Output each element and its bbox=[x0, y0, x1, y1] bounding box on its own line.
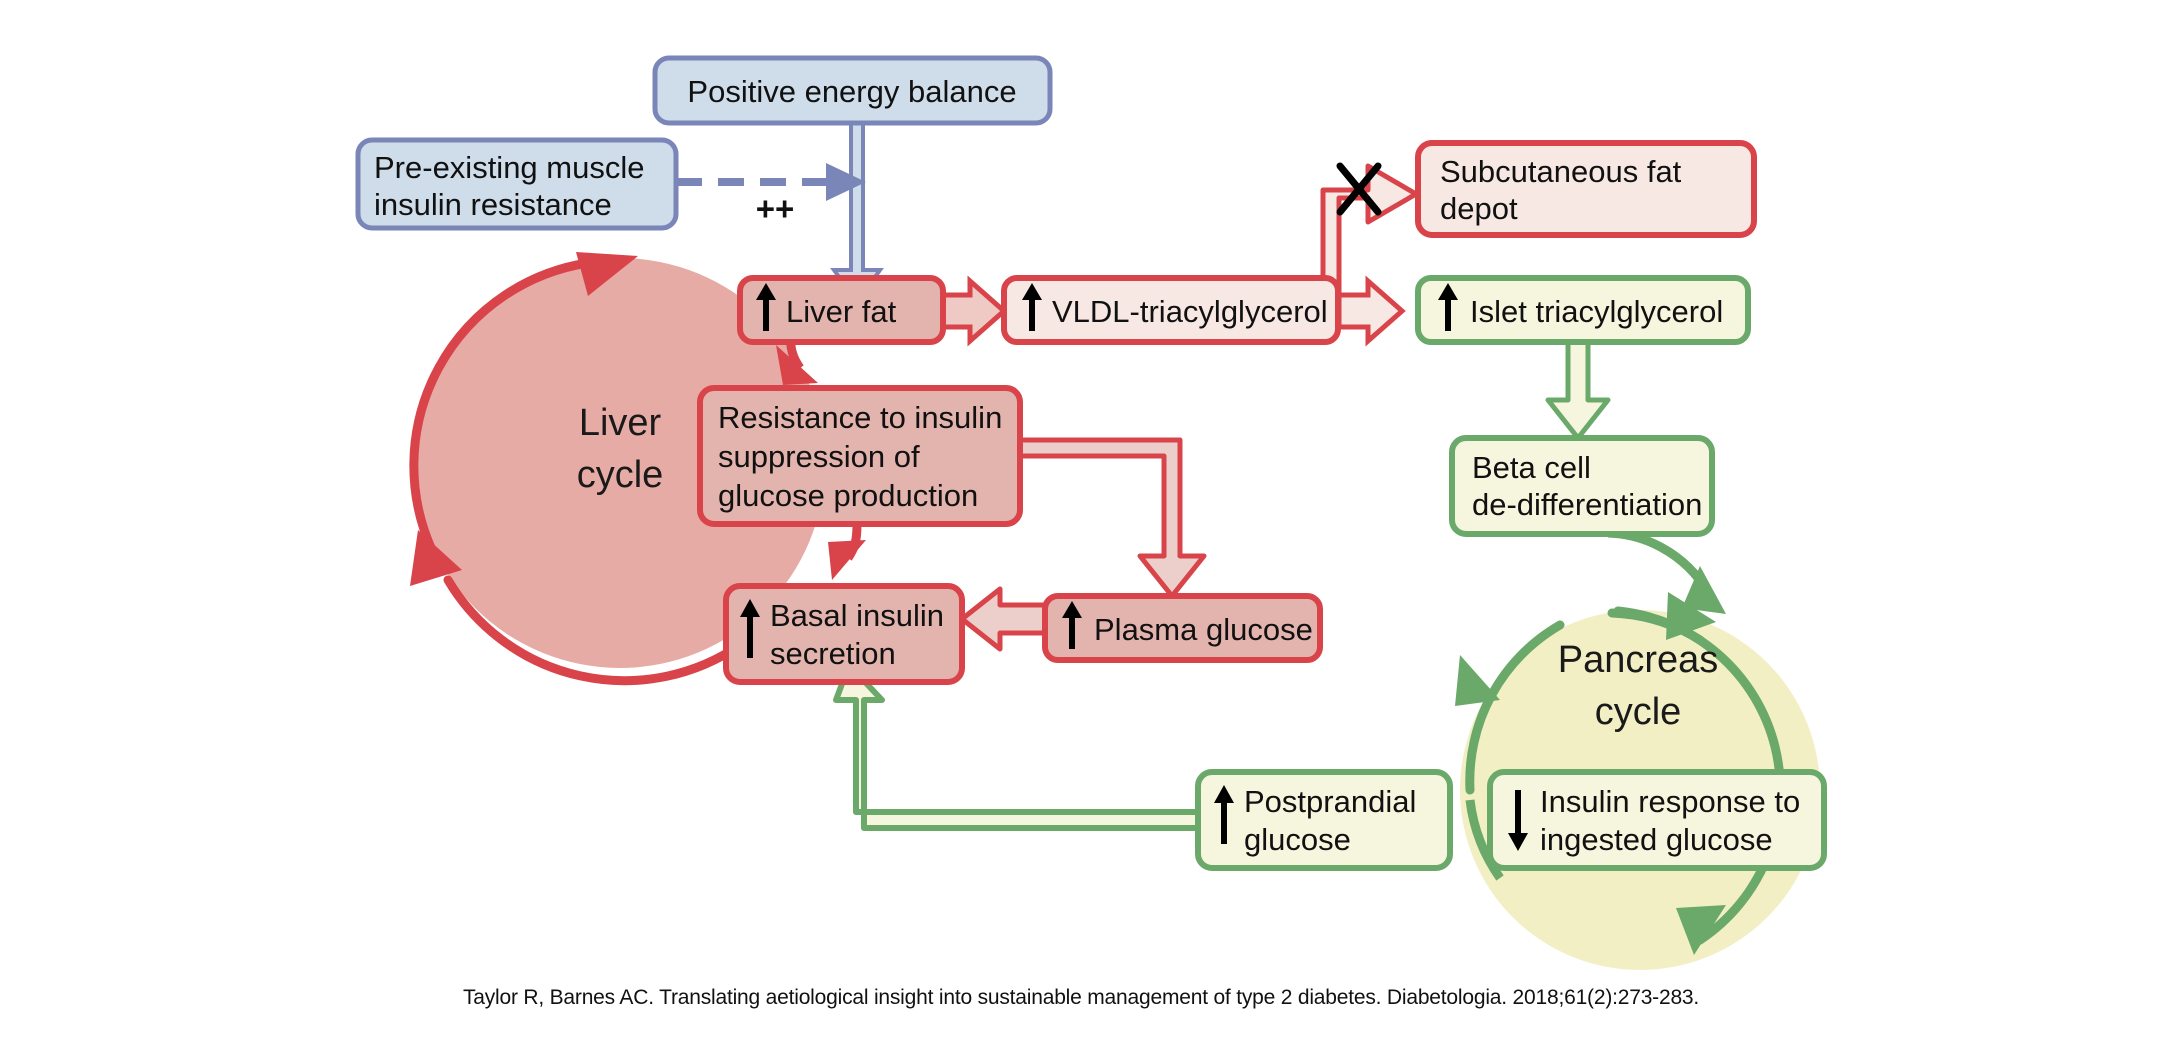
node-vldl-triacylglycerol[interactable]: VLDL-triacylglycerol bbox=[1004, 278, 1338, 342]
node-label-liver-fat: Liver fat bbox=[786, 294, 897, 329]
node-label-vldl: VLDL-triacylglycerol bbox=[1052, 294, 1328, 329]
liver-cycle-label-line2: cycle bbox=[577, 454, 664, 496]
node-basal-insulin-secretion[interactable]: Basal insulin secretion bbox=[726, 586, 962, 682]
node-label-postprandial-line1: Postprandial bbox=[1244, 784, 1416, 819]
node-insulin-response-ingested-glucose[interactable]: Insulin response to ingested glucose bbox=[1490, 772, 1824, 868]
arrow-liverfat-to-vldl bbox=[943, 281, 1004, 341]
node-label-muscle-ir-line2: insulin resistance bbox=[374, 187, 612, 222]
node-label-insulin-response-line2: ingested glucose bbox=[1540, 822, 1773, 857]
pancreas-cycle-label-line2: cycle bbox=[1595, 691, 1682, 733]
node-label-resistance-line1: Resistance to insulin bbox=[718, 400, 1002, 435]
node-beta-cell-dedifferentiation[interactable]: Beta cell de-differentiation bbox=[1452, 438, 1712, 534]
node-label-basal-insulin-line1: Basal insulin bbox=[770, 598, 944, 633]
arrow-plasmaglucose-to-basalinsulin bbox=[962, 589, 1045, 649]
node-label-subcutaneous-line1: Subcutaneous fat bbox=[1440, 154, 1682, 189]
node-label-resistance-line2: suppression of bbox=[718, 439, 920, 474]
twin-cycle-diagram: ++ bbox=[0, 0, 2162, 1041]
node-label-resistance-line3: glucose production bbox=[718, 478, 978, 513]
pancreas-cycle-label-line1: Pancreas bbox=[1558, 639, 1719, 681]
node-resistance-to-insulin-suppression[interactable]: Resistance to insulin suppression of glu… bbox=[700, 388, 1020, 524]
node-liver-fat[interactable]: Liver fat bbox=[740, 278, 943, 342]
node-label-postprandial-line2: glucose bbox=[1244, 822, 1351, 857]
node-plasma-glucose[interactable]: Plasma glucose bbox=[1045, 596, 1320, 660]
arrow-postprandial-to-basalinsulin bbox=[836, 665, 1198, 828]
node-label-betacell-line2: de-differentiation bbox=[1472, 487, 1702, 522]
node-label-islet: Islet triacylglycerol bbox=[1470, 294, 1723, 329]
node-islet-triacylglycerol[interactable]: Islet triacylglycerol bbox=[1418, 278, 1748, 342]
node-label-positive-energy-balance: Positive energy balance bbox=[687, 74, 1016, 109]
arrowhead-resistance-curve-down bbox=[828, 540, 866, 580]
figure-caption: Taylor R, Barnes AC. Translating aetiolo… bbox=[0, 986, 2162, 1010]
node-pre-existing-muscle-insulin-resistance[interactable]: Pre-existing muscle insulin resistance bbox=[358, 140, 676, 228]
pancreas-cycle-arrowhead-left bbox=[1455, 655, 1500, 706]
node-postprandial-glucose[interactable]: Postprandial glucose bbox=[1198, 772, 1450, 868]
arrow-islet-to-betacell bbox=[1548, 339, 1608, 438]
diagram-canvas: ++ bbox=[0, 0, 2162, 1041]
node-label-betacell-line1: Beta cell bbox=[1472, 450, 1591, 485]
node-positive-energy-balance[interactable]: Positive energy balance bbox=[655, 58, 1050, 123]
arrow-resistance-to-plasmaglucose bbox=[1018, 440, 1204, 596]
arrow-vldl-to-islet bbox=[1338, 281, 1402, 341]
liver-cycle-label-line1: Liver bbox=[579, 402, 662, 444]
node-label-basal-insulin-line2: secretion bbox=[770, 636, 896, 671]
plus-plus-label: ++ bbox=[756, 190, 795, 227]
node-label-plasma-glucose: Plasma glucose bbox=[1094, 612, 1313, 647]
arrowhead-liverfat-to-resistance bbox=[776, 345, 818, 385]
node-label-muscle-ir-line1: Pre-existing muscle bbox=[374, 150, 644, 185]
node-label-subcutaneous-line2: depot bbox=[1440, 191, 1518, 226]
node-subcutaneous-fat-depot[interactable]: Subcutaneous fat depot bbox=[1418, 143, 1754, 235]
node-label-insulin-response-line1: Insulin response to bbox=[1540, 784, 1800, 819]
